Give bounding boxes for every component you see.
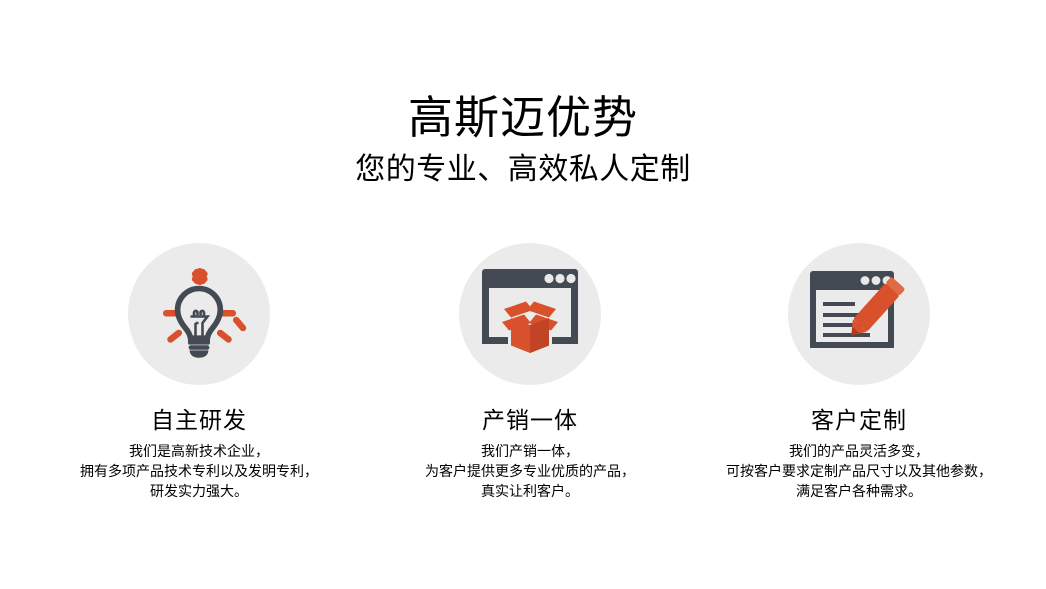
- feature-column-3: 客户定制 我们的产品灵活多变， 可按客户要求定制产品尺寸以及其他参数， 满足客户…: [704, 243, 1014, 501]
- lightbulb-icon: [128, 243, 270, 385]
- feature-heading-1: 自主研发: [151, 407, 247, 435]
- feature-column-1: 自主研发 我们是高新技术企业， 拥有多项产品技术专利以及发明专利， 研发实力强大…: [44, 243, 354, 501]
- feature-body-1: 我们是高新技术企业， 拥有多项产品技术专利以及发明专利， 研发实力强大。: [80, 441, 318, 501]
- slide-root: 高斯迈优势 您的专业、高效私人定制: [0, 0, 1046, 589]
- page-subtitle: 您的专业、高效私人定制: [0, 152, 1046, 188]
- feature-body-2: 我们产销一体， 为客户提供更多专业优质的产品， 真实让利客户。: [425, 441, 635, 501]
- feature-heading-3: 客户定制: [811, 407, 907, 435]
- page-title: 高斯迈优势: [0, 92, 1046, 144]
- feature-column-2: 产销一体 我们产销一体， 为客户提供更多专业优质的产品， 真实让利客户。: [375, 243, 685, 501]
- feature-heading-2: 产销一体: [482, 407, 578, 435]
- feature-columns: 自主研发 我们是高新技术企业， 拥有多项产品技术专利以及发明专利， 研发实力强大…: [0, 243, 1046, 501]
- slide-header: 高斯迈优势 您的专业、高效私人定制: [0, 92, 1046, 188]
- feature-body-3: 我们的产品灵活多变， 可按客户要求定制产品尺寸以及其他参数， 满足客户各种需求。: [726, 441, 992, 501]
- browser-pencil-edit-icon: [788, 243, 930, 385]
- browser-open-box-icon: [459, 243, 601, 385]
